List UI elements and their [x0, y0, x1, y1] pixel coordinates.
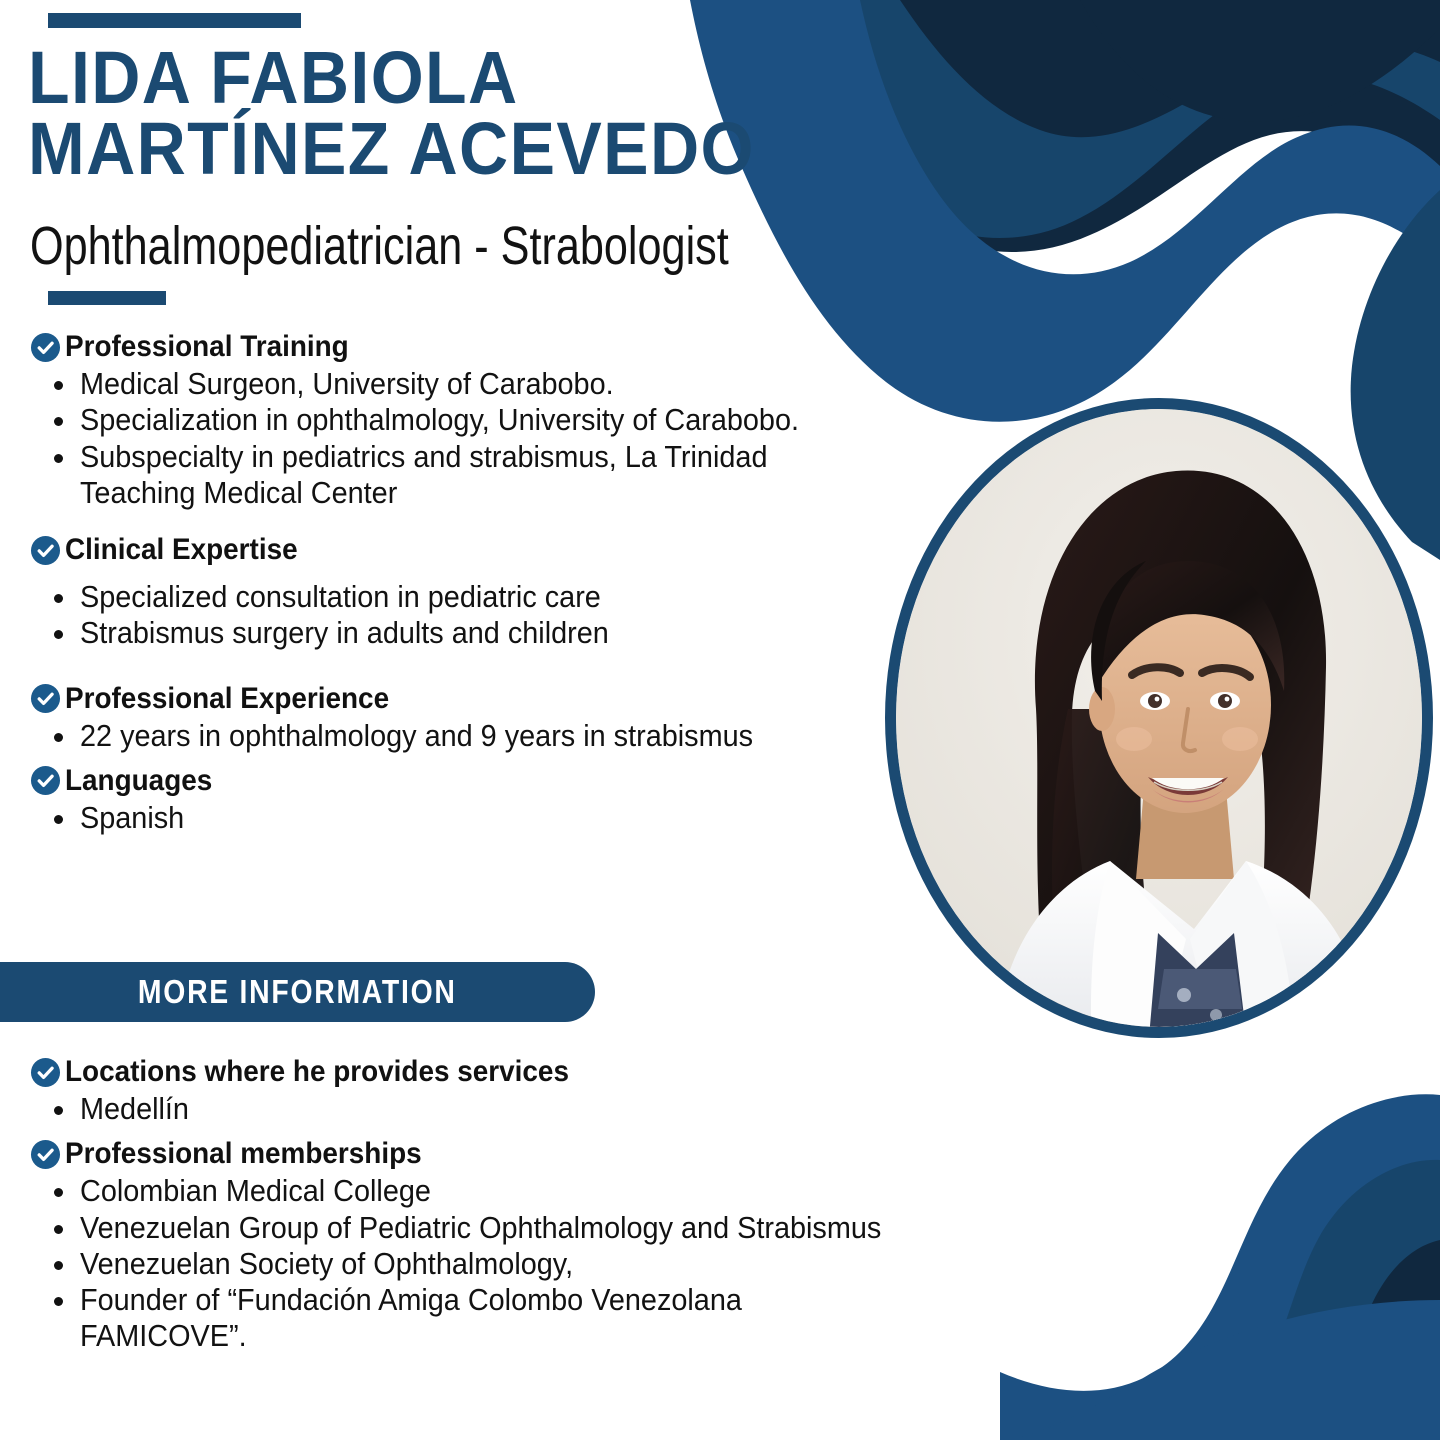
check-circle-icon [30, 1139, 61, 1170]
section-header: Professional memberships [30, 1137, 960, 1171]
section-professional-training: Professional Training Medical Surgeon, U… [0, 330, 940, 511]
list-item: Strabismus surgery in adults and childre… [48, 615, 940, 651]
section-title: Locations where he provides services [65, 1055, 569, 1089]
check-circle-icon [30, 765, 61, 796]
list-item: Specialization in ophthalmology, Univers… [48, 402, 940, 438]
list-item: Colombian Medical College [48, 1173, 960, 1209]
list-item: Venezuelan Group of Pediatric Ophthalmol… [48, 1210, 960, 1246]
section-professional-experience: Professional Experience 22 years in opht… [0, 682, 940, 754]
section-title: Clinical Expertise [65, 533, 298, 567]
list-item: Specialized consultation in pediatric ca… [48, 579, 940, 615]
list-item: Venezuelan Society of Ophthalmology, [48, 1246, 960, 1282]
wave-bottom-dark [1336, 1240, 1440, 1440]
list-item: Medical Surgeon, University of Carabobo. [48, 366, 940, 402]
section-title: Languages [65, 764, 212, 798]
section-title: Professional Experience [65, 682, 389, 716]
section-items: Medical Surgeon, University of Carabobo.… [0, 366, 940, 511]
section-header: Professional Experience [30, 682, 940, 716]
section-items: Spanish [0, 800, 940, 836]
section-header: Locations where he provides services [30, 1055, 960, 1089]
page-title: LIDA FABIOLA MARTÍNEZ ACEVEDO [28, 42, 958, 184]
section-header: Clinical Expertise [30, 533, 940, 567]
wave-top-edge-dark [1080, 0, 1440, 122]
accent-bar-subtitle [48, 291, 166, 305]
list-item: Subspecialty in pediatrics and strabismu… [48, 439, 940, 512]
wave-bottom-mid [1150, 1160, 1440, 1440]
list-item: 22 years in ophthalmology and 9 years in… [48, 718, 940, 754]
section-items: Specialized consultation in pediatric ca… [0, 579, 940, 652]
accent-bar-top [48, 13, 301, 28]
portrait-photo [896, 409, 1422, 1027]
profession-subtitle: Ophthalmopediatrician - Strabologist [30, 215, 729, 277]
section-title: Professional Training [65, 330, 349, 364]
section-header: Professional Training [30, 330, 940, 364]
section-clinical-expertise: Clinical Expertise Specialized consultat… [0, 533, 940, 652]
check-circle-icon [30, 1057, 61, 1088]
avatar [885, 398, 1433, 1038]
wave-right-band [1351, 190, 1440, 560]
more-information-list: Locations where he provides services Med… [0, 1055, 960, 1355]
name-line-2: MARTÍNEZ ACEVEDO [28, 113, 884, 184]
check-circle-icon [30, 332, 61, 363]
check-circle-icon [30, 535, 61, 566]
check-circle-icon [30, 683, 61, 714]
list-item: Founder of “Fundación Amiga Colombo Vene… [48, 1282, 960, 1355]
profile-card: LIDA FABIOLA MARTÍNEZ ACEVEDO Ophthalmop… [0, 0, 1440, 1440]
list-item: Medellín [48, 1091, 960, 1127]
list-item: Spanish [48, 800, 940, 836]
section-items: Medellín [0, 1091, 960, 1127]
more-information-label: MORE INFORMATION [138, 973, 457, 1011]
section-items: 22 years in ophthalmology and 9 years in… [0, 718, 940, 754]
section-languages: Languages Spanish [0, 764, 940, 836]
wave-bottom-light [1000, 1094, 1440, 1440]
section-title: Professional memberships [65, 1137, 422, 1171]
section-header: Languages [30, 764, 940, 798]
wave-bottom-sweep [1010, 1300, 1440, 1440]
name-line-1: LIDA FABIOLA [28, 42, 884, 113]
section-memberships: Professional memberships Colombian Medic… [0, 1137, 960, 1354]
credentials-list: Professional Training Medical Surgeon, U… [0, 330, 940, 836]
more-information-banner: MORE INFORMATION [0, 962, 595, 1022]
section-locations: Locations where he provides services Med… [0, 1055, 960, 1127]
section-items: Colombian Medical College Venezuelan Gro… [0, 1173, 960, 1354]
